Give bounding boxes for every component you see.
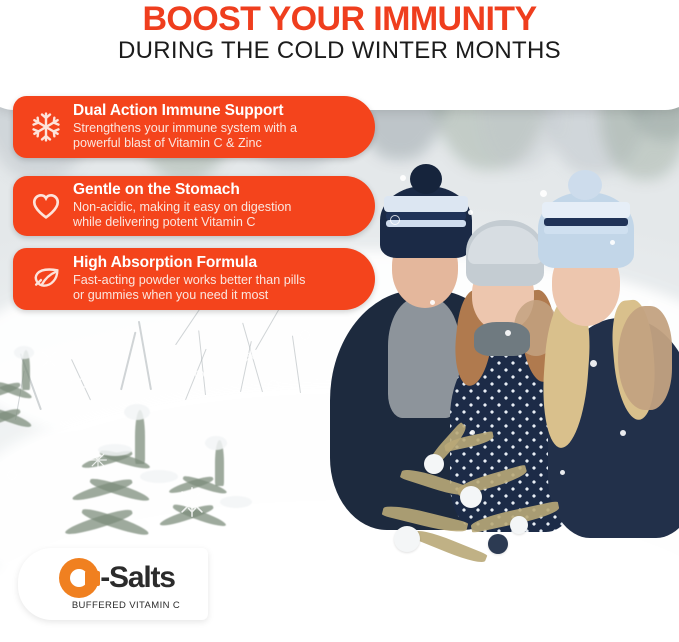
falling-snow (560, 470, 565, 475)
brand-logo: -Salts (59, 558, 175, 598)
falling-snow (430, 300, 435, 305)
feature-description-line2: or gummies when you need it most (73, 288, 268, 302)
feature-text: High Absorption Formula Fast-acting powd… (69, 254, 305, 304)
leaf-icon (23, 256, 69, 302)
feature-title: Dual Action Immune Support (73, 102, 297, 119)
falling-snow (620, 430, 626, 436)
feature-description-line2: while delivering potent Vitamin C (73, 215, 255, 229)
tree-ornament (424, 454, 444, 474)
falling-snow-ring (268, 380, 279, 391)
falling-snow-ring (7, 470, 17, 480)
mother-hat-pompom (568, 170, 602, 200)
page-title: BOOST YOUR IMMUNITY (0, 2, 679, 36)
decorative-snowflake-icon (175, 485, 209, 519)
falling-snow (400, 175, 406, 181)
falling-snow (610, 240, 615, 245)
family-group (330, 150, 679, 530)
father-hat-pompom (410, 164, 442, 194)
brand-logo-card: -Salts BUFFERED VITAMIN C (18, 548, 208, 620)
falling-snow (648, 300, 653, 305)
decorative-snowflake-icon (38, 348, 60, 370)
feature-text: Dual Action Immune Support Strengthens y… (69, 102, 297, 152)
tree-ornament (510, 516, 528, 534)
page-subtitle: DURING THE COLD WINTER MONTHS (0, 39, 679, 63)
mini-christmas-tree (360, 430, 580, 570)
falling-snow (590, 360, 597, 367)
feature-description: Strengthens your immune system with a po… (73, 121, 297, 152)
feature-description-line2: powerful blast of Vitamin C & Zinc (73, 136, 262, 150)
feature-description-line1: Non-acidic, making it easy on digestion (73, 200, 291, 214)
falling-snow (540, 190, 547, 197)
heart-icon (23, 183, 69, 229)
feature-title: Gentle on the Stomach (73, 181, 291, 198)
tree-ornament (460, 486, 482, 508)
feature-title: High Absorption Formula (73, 254, 305, 271)
snowflake-icon (23, 104, 69, 150)
feature-description: Non-acidic, making it easy on digestion … (73, 200, 291, 231)
falling-snow-ring (300, 330, 310, 340)
falling-snow-ring (390, 215, 400, 225)
decorative-snowflake-icon (88, 450, 108, 470)
decorative-snowflake-icon (58, 372, 88, 402)
falling-snow (468, 210, 473, 215)
falling-snow (470, 430, 475, 435)
logo-tagline: BUFFERED VITAMIN C (72, 600, 180, 611)
feature-pill-dual-action-immune-support: Dual Action Immune Support Strengthens y… (13, 96, 375, 158)
falling-snow (505, 330, 511, 336)
feature-pill-gentle-on-the-stomach: Gentle on the Stomach Non-acidic, making… (13, 176, 375, 236)
decorative-snowflake-icon (240, 345, 262, 367)
feature-description-line1: Strengthens your immune system with a (73, 121, 297, 135)
falling-snow-ring (195, 370, 204, 379)
logo-wordmark: -Salts (100, 563, 175, 593)
feature-text: Gentle on the Stomach Non-acidic, making… (69, 181, 291, 231)
tree-ornament (488, 534, 508, 554)
product-lifestyle-graphic: BOOST YOUR IMMUNITY DURING THE COLD WINT… (0, 0, 679, 642)
feature-description-line1: Fast-acting powder works better than pil… (73, 273, 305, 287)
feature-pill-high-absorption-formula: High Absorption Formula Fast-acting powd… (13, 248, 375, 310)
logo-c-mark (59, 558, 99, 598)
header-band: BOOST YOUR IMMUNITY DURING THE COLD WINT… (0, 0, 679, 110)
feature-description: Fast-acting powder works better than pil… (73, 273, 305, 304)
tree-ornament (394, 526, 420, 552)
